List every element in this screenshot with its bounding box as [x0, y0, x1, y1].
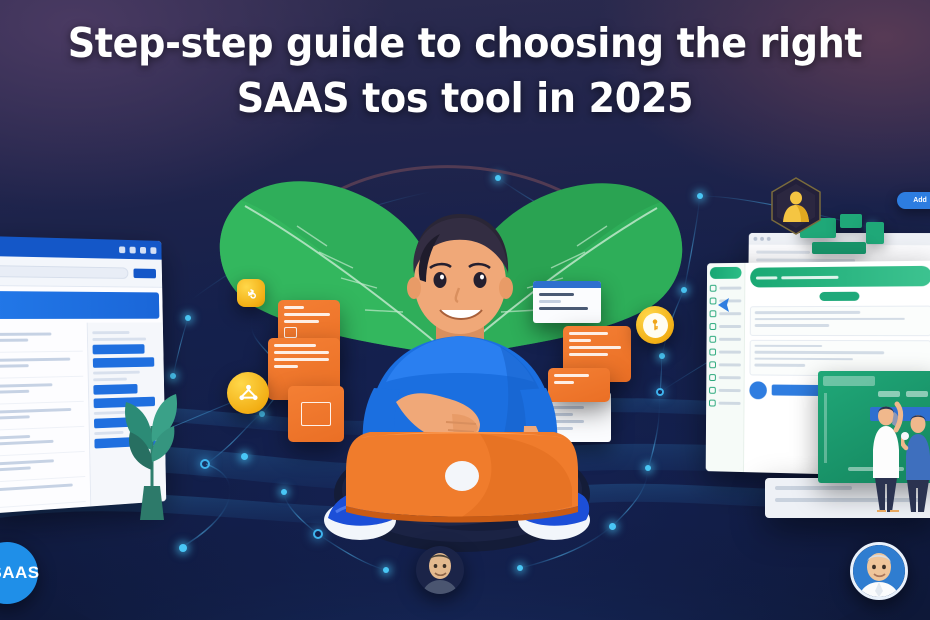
- left-dashboard-banner: [0, 291, 159, 319]
- sidebar-item-settings[interactable]: [709, 400, 741, 407]
- network-node: [645, 465, 651, 471]
- gear-icon: [709, 400, 716, 407]
- sidebar-item-tasks[interactable]: [709, 374, 741, 381]
- green-chip-d[interactable]: [812, 242, 866, 254]
- network-node: [383, 567, 389, 573]
- network-node: [517, 565, 523, 571]
- primary-action-button[interactable]: [133, 268, 156, 278]
- plant-decoration: [118, 330, 188, 520]
- green-chip-c[interactable]: [866, 222, 884, 244]
- table-row[interactable]: [0, 377, 84, 405]
- network-node: [200, 459, 210, 469]
- panel-heading: [823, 376, 875, 386]
- summary-card[interactable]: [750, 306, 930, 336]
- sidebar-item-files[interactable]: [710, 323, 742, 330]
- inbox-icon: [709, 361, 716, 368]
- network-icon: [236, 381, 261, 406]
- calendar-icon: [709, 387, 716, 394]
- saas-circle-badge[interactable]: SAAS: [0, 542, 38, 604]
- table-row[interactable]: [0, 477, 86, 509]
- person-illustration-attendee: [901, 404, 930, 512]
- left-dashboard-table: [0, 323, 91, 514]
- user-icon[interactable]: [150, 247, 156, 254]
- grid-icon: [710, 285, 717, 292]
- chat-fab-icon[interactable]: [749, 381, 767, 399]
- network-node: [697, 193, 703, 199]
- sidebar-item-inbox[interactable]: [709, 361, 741, 368]
- green-pill-button[interactable]: [819, 292, 859, 301]
- network-node: [241, 453, 248, 460]
- network-node: [185, 315, 191, 321]
- table-row[interactable]: [0, 352, 83, 379]
- network-node: [281, 489, 287, 495]
- gold-link-badge[interactable]: [237, 279, 265, 307]
- top-right-pill-button[interactable]: Add: [897, 192, 930, 209]
- left-dashboard-search-row: [0, 256, 162, 288]
- checklist-icon: [709, 374, 716, 381]
- avatar-center-bottom[interactable]: [416, 546, 464, 594]
- table-row[interactable]: [0, 327, 83, 353]
- key-icon: [647, 317, 663, 333]
- green-banner: [750, 266, 930, 288]
- page-title: Step-step guide to choosing the right SA…: [33, 16, 898, 126]
- app-logo: [710, 267, 742, 279]
- green-chip-b[interactable]: [840, 214, 862, 228]
- network-node: [179, 544, 187, 552]
- sidebar-item-media[interactable]: [709, 336, 741, 343]
- people-icon: [709, 349, 716, 356]
- title-line-2: SAAS tos tool in 2025: [33, 71, 898, 126]
- avatar-right-bottom[interactable]: [850, 542, 908, 600]
- gold-network-badge[interactable]: [227, 372, 269, 414]
- sidebar-item-calendar[interactable]: [709, 387, 741, 394]
- folder-icon: [710, 323, 717, 330]
- hexagon-gold-badge[interactable]: [768, 176, 824, 236]
- music-icon: [709, 336, 716, 343]
- network-node: [259, 411, 265, 417]
- window-dot: [760, 237, 764, 241]
- window-dot: [767, 237, 771, 241]
- cart-icon[interactable]: [130, 246, 136, 253]
- image-placeholder-icon: [284, 327, 297, 338]
- settings-icon[interactable]: [140, 246, 146, 253]
- window-dot: [754, 237, 758, 241]
- right-dashboard-sidebar: [706, 263, 746, 472]
- gold-key-badge[interactable]: [636, 306, 674, 344]
- bell-icon[interactable]: [119, 246, 125, 253]
- hero-character-man-with-laptop: [300, 176, 620, 552]
- link-icon: [243, 285, 259, 301]
- title-line-1: Step-step guide to choosing the right: [33, 16, 898, 71]
- sidebar-item-dashboard[interactable]: [710, 285, 742, 292]
- cursor-arrow-icon: [716, 296, 736, 314]
- sidebar-item-contacts[interactable]: [709, 349, 741, 356]
- search-input[interactable]: [0, 265, 128, 279]
- hero-banner-canvas: Step-step guide to choosing the right SA…: [0, 0, 930, 620]
- person-illustration-presenter: [866, 392, 906, 512]
